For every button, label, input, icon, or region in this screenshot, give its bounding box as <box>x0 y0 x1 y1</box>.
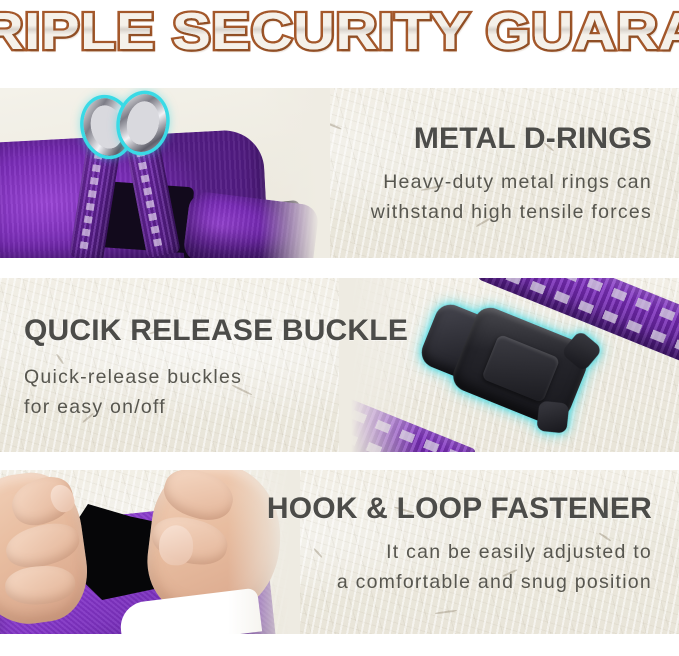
panel-heading: METAL D-RINGS <box>371 122 652 156</box>
finger <box>4 564 76 607</box>
image-hook-and-loop-fastener <box>0 470 300 634</box>
feature-panel-quick-release-buckle: QUCIK RELEASE BUCKLE Quick-release buckl… <box>0 278 679 452</box>
photo-edge-fade <box>260 88 330 258</box>
title-banner: TRIPLE SECURITY GUARANTEE TRIPLE SECURIT… <box>0 0 679 88</box>
panel-body-line-1: Quick-release buckles <box>24 362 408 392</box>
panel-body-line-1: It can be easily adjusted to <box>267 537 652 567</box>
panel-body-line-2: withstand high tensile forces <box>371 197 652 227</box>
text-block-quick-release-buckle: QUCIK RELEASE BUCKLE Quick-release buckl… <box>24 314 408 422</box>
image-metal-d-rings <box>0 88 330 258</box>
panel-body-line-2: a comfortable and snug position <box>267 567 652 597</box>
feature-panel-metal-d-rings: METAL D-RINGS Heavy-duty metal rings can… <box>0 88 679 258</box>
feature-panel-hook-and-loop-fastener: HOOK & LOOP FASTENER It can be easily ad… <box>0 470 679 634</box>
buckle-release-tab-bottom <box>536 401 569 434</box>
text-block-hook-and-loop-fastener: HOOK & LOOP FASTENER It can be easily ad… <box>267 492 652 597</box>
panel-heading: QUCIK RELEASE BUCKLE <box>24 314 408 348</box>
panel-body-line-2: for easy on/off <box>24 392 408 422</box>
title-wrap: TRIPLE SECURITY GUARANTEE TRIPLE SECURIT… <box>0 0 679 58</box>
panel-heading: HOOK & LOOP FASTENER <box>267 492 652 526</box>
text-block-metal-d-rings: METAL D-RINGS Heavy-duty metal rings can… <box>371 122 652 227</box>
page-title-fill: TRIPLE SECURITY GUARANTEE <box>0 2 679 60</box>
reflective-stitching-left <box>79 151 103 251</box>
thumbnail <box>159 525 194 566</box>
panel-body-line-1: Heavy-duty metal rings can <box>371 167 652 197</box>
